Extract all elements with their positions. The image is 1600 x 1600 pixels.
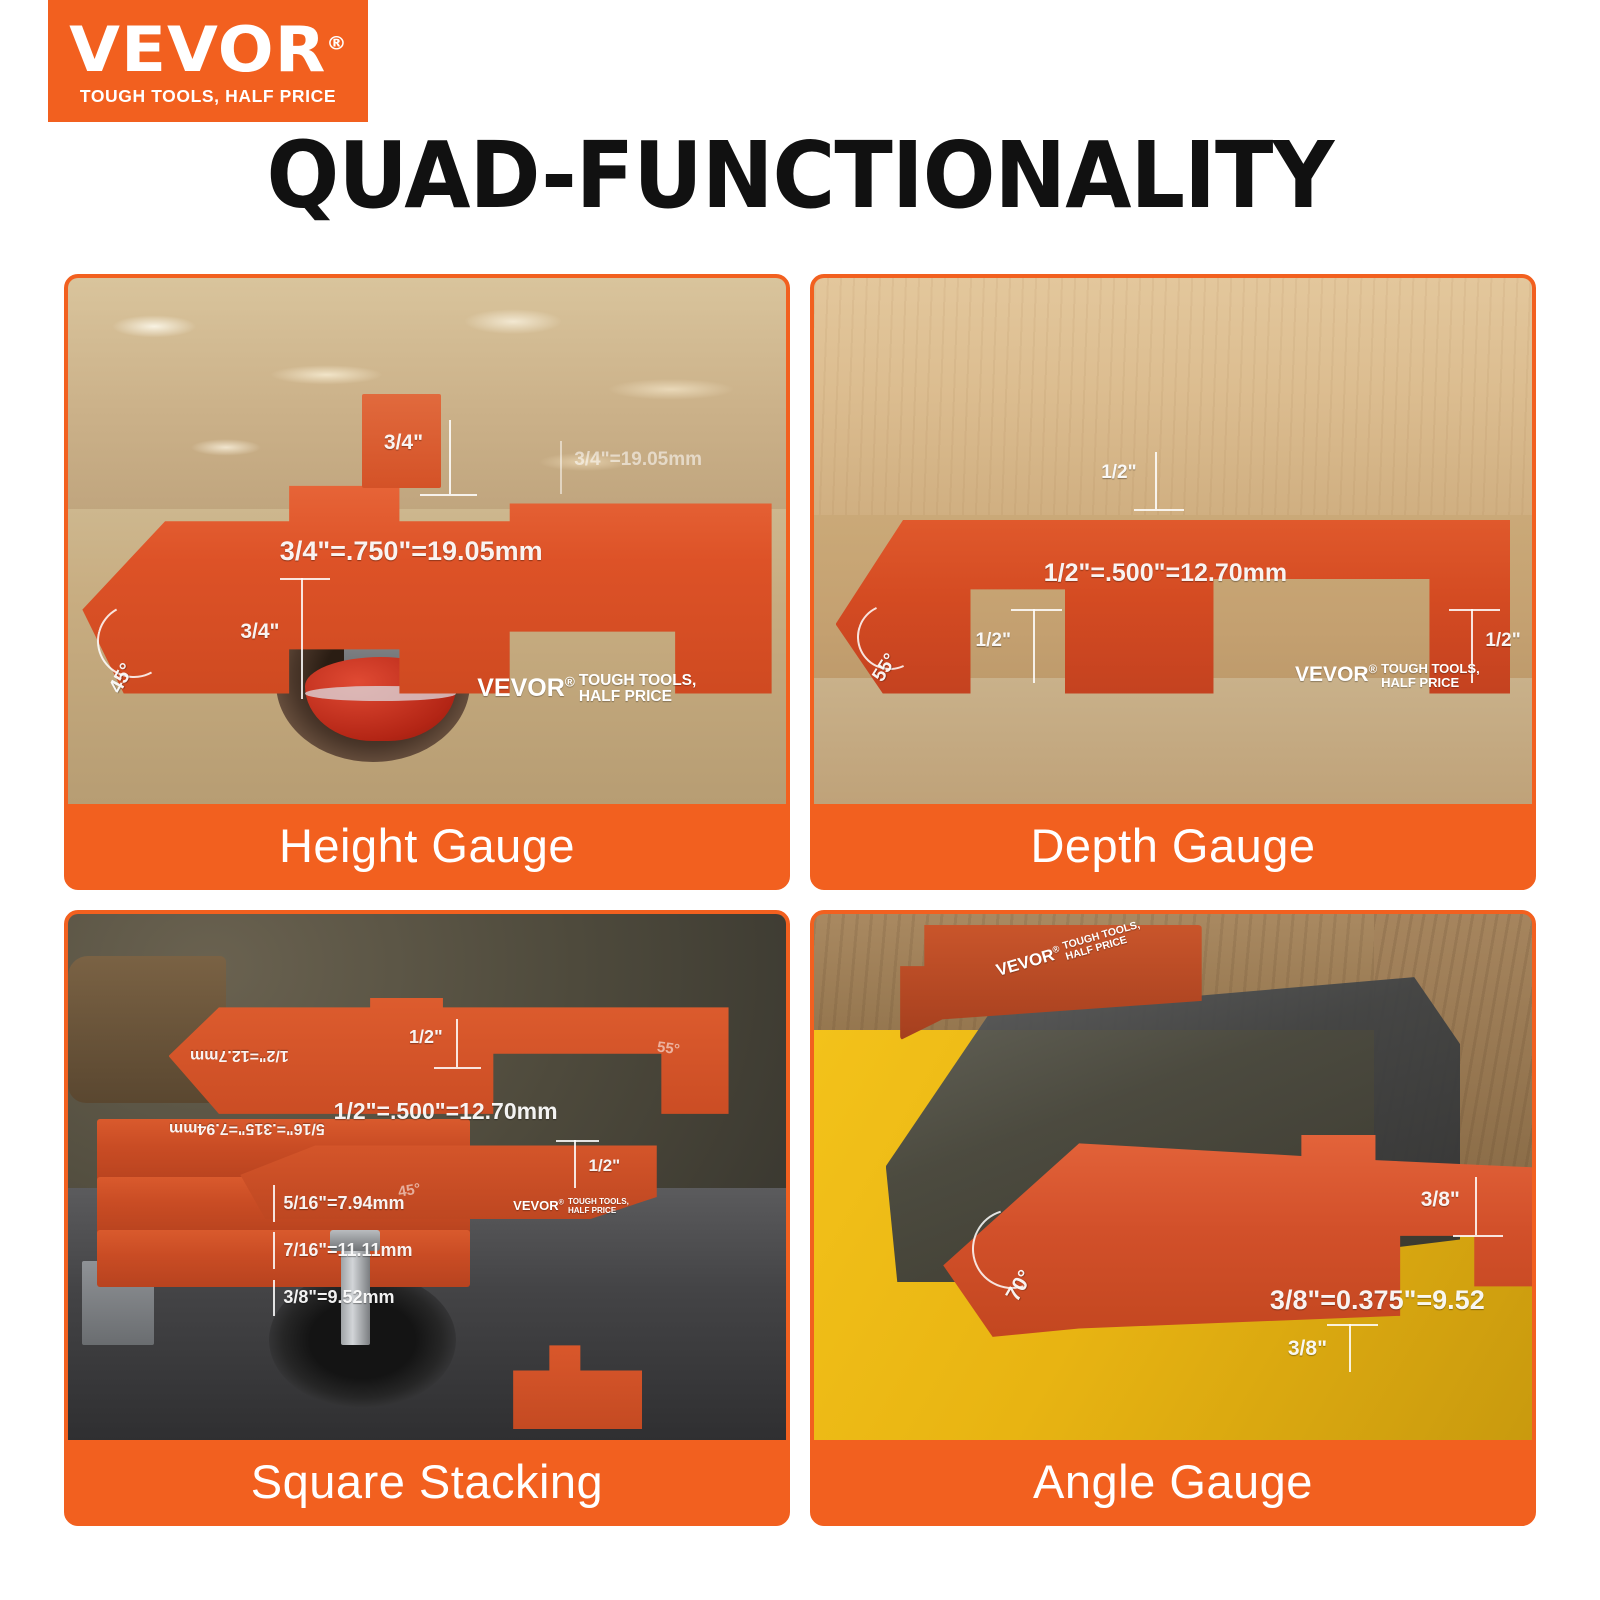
vevor-logo-badge: VEVOR® TOUGH TOOLS, HALF PRICE [48, 0, 368, 122]
caption-angle-gauge: Angle Gauge [814, 1440, 1532, 1522]
panel-square-stacking[interactable]: 1/2" 1/2"=.500"=12.70mm 1/2"=12.7mm 1/2"… [64, 910, 790, 1526]
router-bit-shank [341, 1240, 370, 1345]
stacked-gauge-bar-3 [97, 1230, 470, 1288]
brand-tagline: TOUGH TOOLS, HALF PRICE [80, 86, 336, 107]
photo-square-stacking: 1/2" 1/2"=.500"=12.70mm 1/2"=12.7mm 1/2"… [68, 914, 786, 1440]
scene-height-gauge: 3/4" 3/4"=19.05mm 3/4"=.750"=19.05mm 45°… [68, 278, 786, 804]
caption-height-gauge: Height Gauge [68, 804, 786, 886]
maple-board [814, 278, 1532, 525]
panel-angle-gauge[interactable]: 70° 3/8" 3/8"=0.375"=9.52 3/8" VEVOR®TOU… [810, 910, 1536, 1526]
panel-depth-gauge[interactable]: 1/2" 1/2"=.500"=12.70mm 55° 1/2" 1/2" VE… [810, 274, 1536, 890]
router-bit-bearing [330, 1230, 380, 1251]
scene-angle-gauge: 70° 3/8" 3/8"=0.375"=9.52 3/8" VEVOR®TOU… [814, 914, 1532, 1440]
page-title: QUAD-FUNCTIONALITY [56, 130, 1544, 222]
brand-wordmark: VEVOR® [69, 21, 346, 78]
middle-setup-block [240, 1145, 656, 1219]
brand-name: VEVOR [69, 13, 326, 86]
photo-height-gauge: 3/4" 3/4"=19.05mm 3/4"=.750"=19.05mm 45°… [68, 278, 786, 804]
registered-trademark-icon: ® [327, 33, 347, 55]
feature-grid: 3/4" 3/4"=19.05mm 3/4"=.750"=19.05mm 45°… [64, 274, 1536, 1526]
photo-angle-gauge: 70° 3/8" 3/8"=0.375"=9.52 3/8" VEVOR®TOU… [814, 914, 1532, 1440]
caption-depth-gauge: Depth Gauge [814, 804, 1532, 886]
caption-square-stacking: Square Stacking [68, 1440, 786, 1522]
bench-surface [814, 678, 1532, 804]
tool-step-tab [362, 394, 441, 489]
scene-square-stacking: 1/2" 1/2"=.500"=12.70mm 1/2"=12.7mm 1/2"… [68, 914, 786, 1440]
panel-height-gauge[interactable]: 3/4" 3/4"=19.05mm 3/4"=.750"=19.05mm 45°… [64, 274, 790, 890]
scene-depth-gauge: 1/2" 1/2"=.500"=12.70mm 55° 1/2" 1/2" VE… [814, 278, 1532, 804]
photo-depth-gauge: 1/2" 1/2"=.500"=12.70mm 55° 1/2" 1/2" VE… [814, 278, 1532, 804]
